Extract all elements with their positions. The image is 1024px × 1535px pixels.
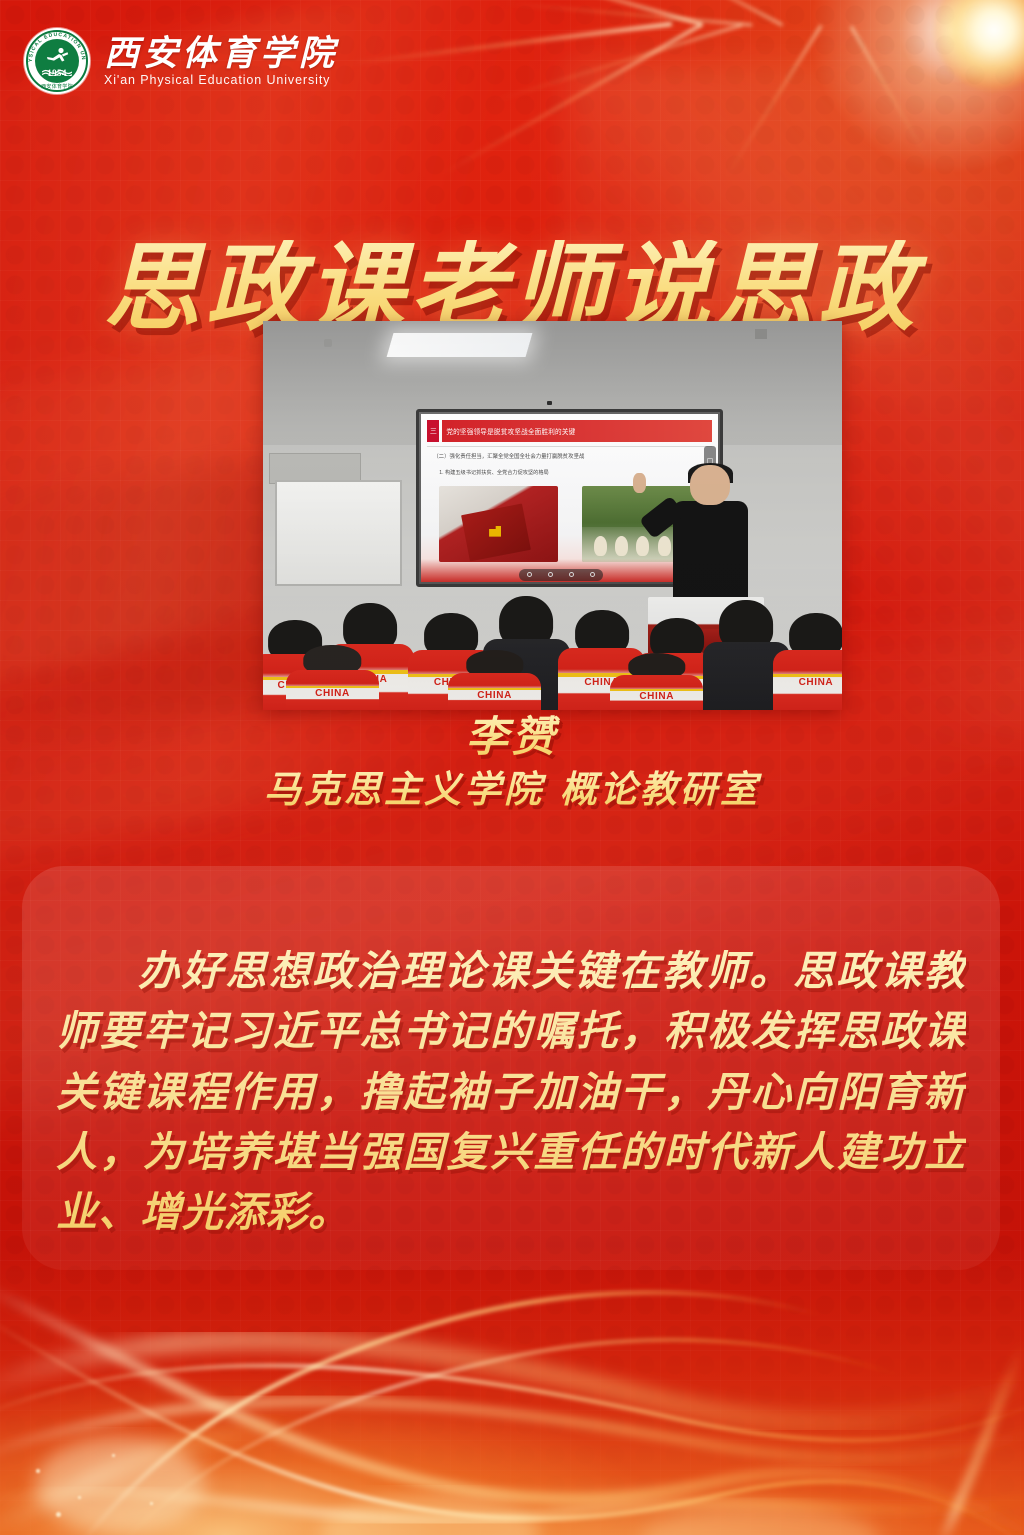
speaker-department: 马克思主义学院 概论教研室 <box>0 768 1024 811</box>
pen-icon[interactable] <box>548 572 553 577</box>
ceiling-vent <box>755 329 767 339</box>
speaker-name: 李赟 <box>0 714 1024 760</box>
slide-subheading-1: （二）强化责任担当，汇聚全党全国全社会力量打赢脱贫攻坚战 <box>433 452 584 460</box>
display-bottom-bar[interactable] <box>519 569 603 581</box>
svg-text:XI'AN PHYSICAL EDUCATION UNIVE: XI'AN PHYSICAL EDUCATION UNIVERSITY <box>24 28 86 62</box>
university-seal-icon: 1954 西安体育学院 XI'AN PHYSICAL EDUCATION UNI… <box>24 28 90 94</box>
seal-arc-text: XI'AN PHYSICAL EDUCATION UNIVERSITY <box>24 28 90 94</box>
whiteboard <box>275 480 402 585</box>
slide-subheading-2: 1. 构建五级书记抓扶贫、全党合力促攻坚的格局 <box>439 469 549 476</box>
slide-heading: 党的坚强领导是脱贫攻坚战全面胜利的关键 <box>442 420 712 442</box>
uniform-label: CHINA <box>773 677 842 688</box>
speaker-block: 李赟 马克思主义学院 概论教研室 <box>0 714 1024 811</box>
student-audience: CHINA CHINA CHINA CHINA CHINA CHINA <box>263 586 842 710</box>
classroom-photo: 三 党的坚强领导是脱贫攻坚战全面胜利的关键 （二）强化责任担当，汇聚全党全国全社… <box>263 321 842 710</box>
uniform-label: CHINA <box>448 690 541 701</box>
poster-root: 1954 西安体育学院 XI'AN PHYSICAL EDUCATION UNI… <box>0 0 1024 1535</box>
quote-body: 办好思想政治理论课关键在教师。思政课教师要牢记习近平总书记的嘱托，积极发挥思政课… <box>56 941 966 1242</box>
poster-header: 1954 西安体育学院 XI'AN PHYSICAL EDUCATION UNI… <box>0 0 1024 120</box>
ribbon-curves <box>0 1245 1024 1535</box>
university-name-en: Xi'an Physical Education University <box>104 73 338 87</box>
university-name-cn: 西安体育学院 <box>104 36 338 71</box>
cursor-icon[interactable] <box>527 572 532 577</box>
highlighter-icon[interactable] <box>569 572 574 577</box>
quote-panel: 办好思想政治理论课关键在教师。思政课教师要牢记习近平总书记的嘱托，积极发挥思政课… <box>22 866 1000 1270</box>
slide-image-party-booklet <box>439 486 558 562</box>
slide-section-number: 三 <box>427 420 439 442</box>
uniform-label: CHINA <box>610 691 703 702</box>
brand-lockup: 1954 西安体育学院 XI'AN PHYSICAL EDUCATION UNI… <box>24 28 338 94</box>
bottom-light-ribbons <box>0 1245 1024 1535</box>
sprinkler-icon <box>324 339 332 347</box>
uniform-label: CHINA <box>286 688 379 699</box>
brand-wordmark: 西安体育学院 Xi'an Physical Education Universi… <box>104 36 338 87</box>
undo-icon[interactable] <box>590 572 595 577</box>
camera-icon <box>547 401 552 405</box>
ceiling-light <box>387 333 533 357</box>
